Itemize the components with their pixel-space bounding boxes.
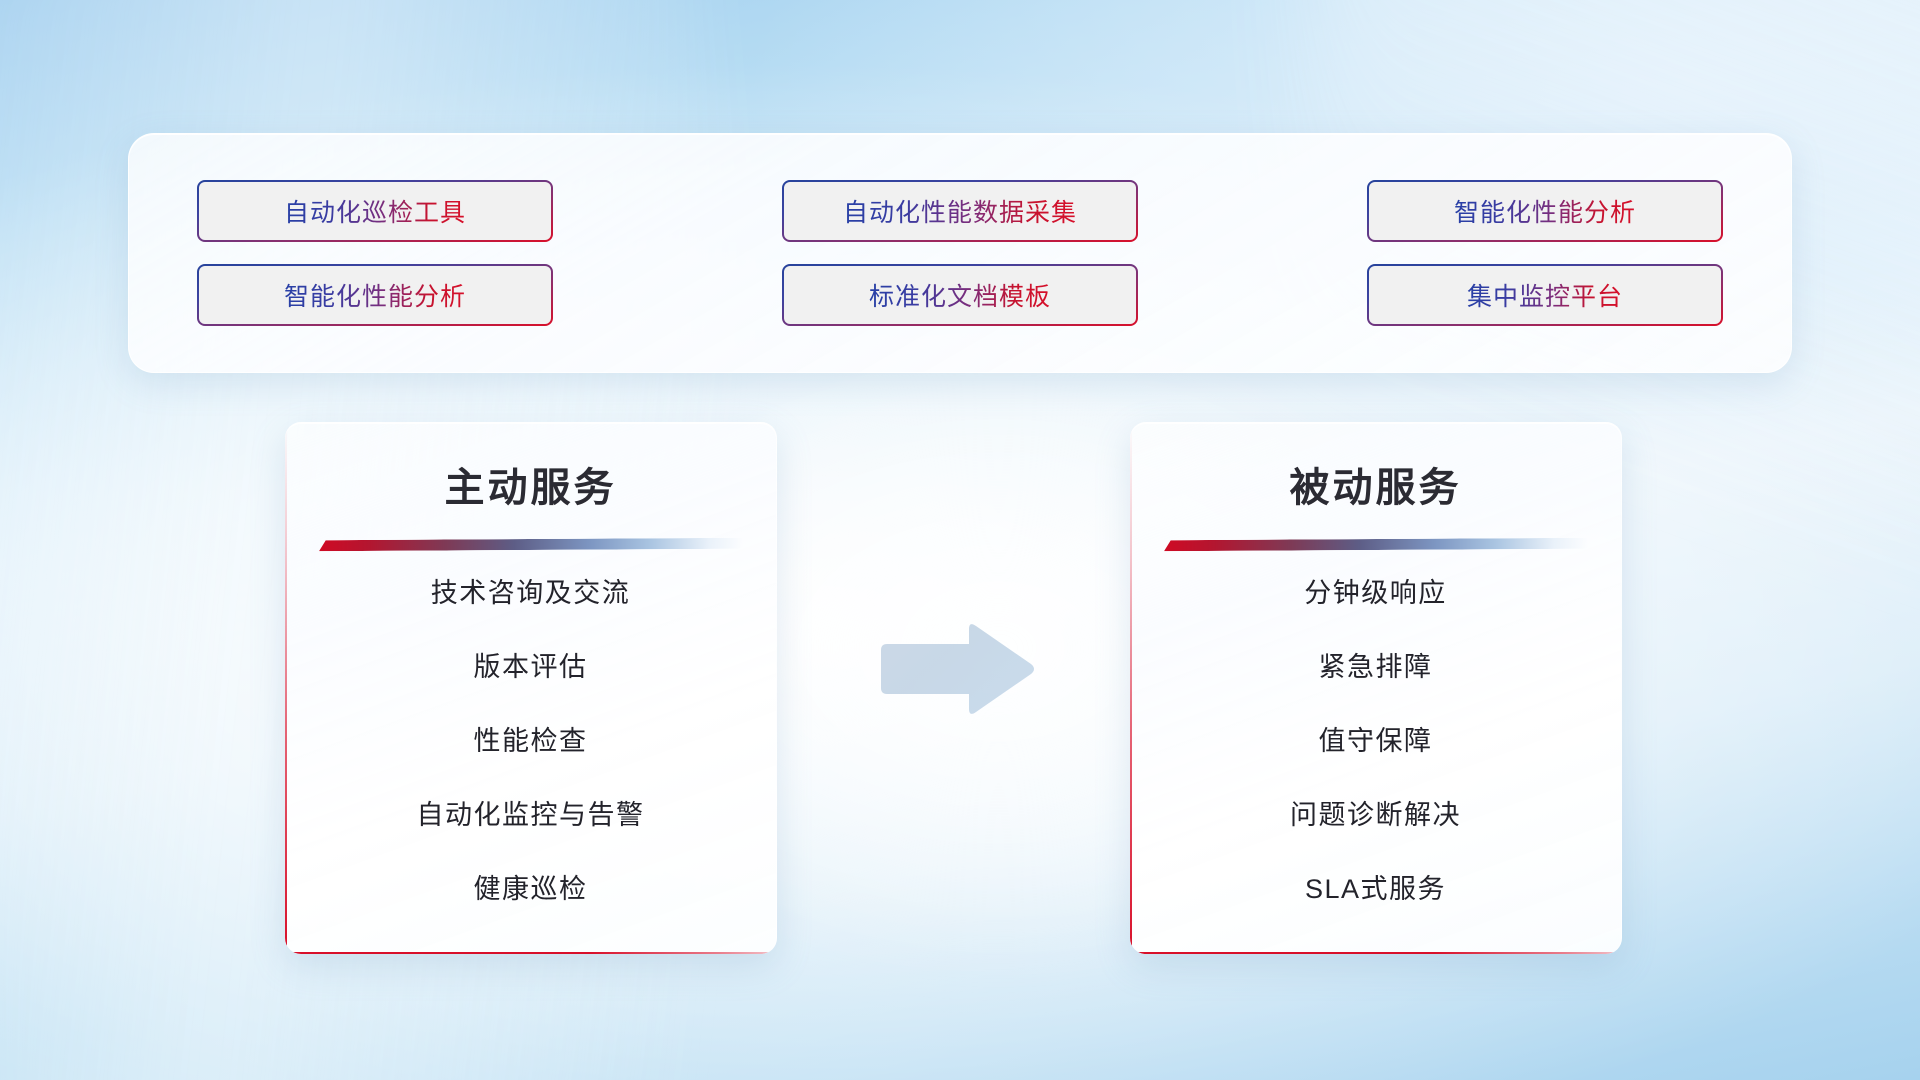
tag-label: 集中监控平台 (1467, 277, 1623, 313)
list-item: 紧急排障 (1319, 654, 1433, 681)
slide-stage: 自动化巡检工具 自动化性能数据采集 智能化性能分析 智能化性能分析 标准化文档模… (0, 0, 1920, 1080)
card-title-divider (319, 538, 743, 552)
tag-automation-inspection-tool[interactable]: 自动化巡检工具 (197, 180, 553, 242)
tag-row-1: 自动化巡检工具 自动化性能数据采集 智能化性能分析 (197, 180, 1723, 242)
tag-label: 智能化性能分析 (284, 277, 466, 313)
list-item: SLA式服务 (1305, 876, 1446, 903)
card-item-list: 分钟级响应 紧急排障 值守保障 问题诊断解决 SLA式服务 (1130, 580, 1621, 903)
service-card-proactive[interactable]: 主动服务 技术咨询及交流 版本评估 性能检查 自动化监控与告警 健康巡检 (285, 422, 777, 954)
card-title: 被动服务 (1130, 455, 1621, 513)
card-title-divider (1164, 538, 1588, 552)
tag-intelligent-performance-analysis-2[interactable]: 智能化性能分析 (197, 264, 553, 326)
capability-tags-panel: 自动化巡检工具 自动化性能数据采集 智能化性能分析 智能化性能分析 标准化文档模… (128, 133, 1792, 373)
tag-label: 智能化性能分析 (1454, 193, 1636, 229)
service-card-reactive[interactable]: 被动服务 分钟级响应 紧急排障 值守保障 问题诊断解决 SLA式服务 (1130, 422, 1622, 954)
list-item: 分钟级响应 (1304, 580, 1447, 607)
tag-label: 自动化性能数据采集 (843, 193, 1077, 229)
list-item: 健康巡检 (474, 876, 588, 903)
tag-intelligent-performance-analysis-1[interactable]: 智能化性能分析 (1367, 180, 1723, 242)
tag-automation-performance-data-collection[interactable]: 自动化性能数据采集 (782, 180, 1138, 242)
list-item: 问题诊断解决 (1290, 802, 1461, 829)
list-item: 自动化监控与告警 (417, 802, 645, 829)
card-item-list: 技术咨询及交流 版本评估 性能检查 自动化监控与告警 健康巡检 (285, 580, 776, 903)
tag-centralized-monitoring-platform[interactable]: 集中监控平台 (1367, 264, 1723, 326)
tag-standardized-document-template[interactable]: 标准化文档模板 (782, 264, 1138, 326)
tag-label: 自动化巡检工具 (284, 193, 466, 229)
arrow-right-icon (877, 620, 1037, 718)
list-item: 版本评估 (474, 654, 588, 681)
tag-label: 标准化文档模板 (869, 277, 1051, 313)
list-item: 技术咨询及交流 (431, 580, 631, 607)
list-item: 值守保障 (1319, 728, 1433, 755)
list-item: 性能检查 (474, 728, 588, 755)
tag-row-2: 智能化性能分析 标准化文档模板 集中监控平台 (197, 264, 1723, 326)
card-title: 主动服务 (285, 455, 776, 513)
